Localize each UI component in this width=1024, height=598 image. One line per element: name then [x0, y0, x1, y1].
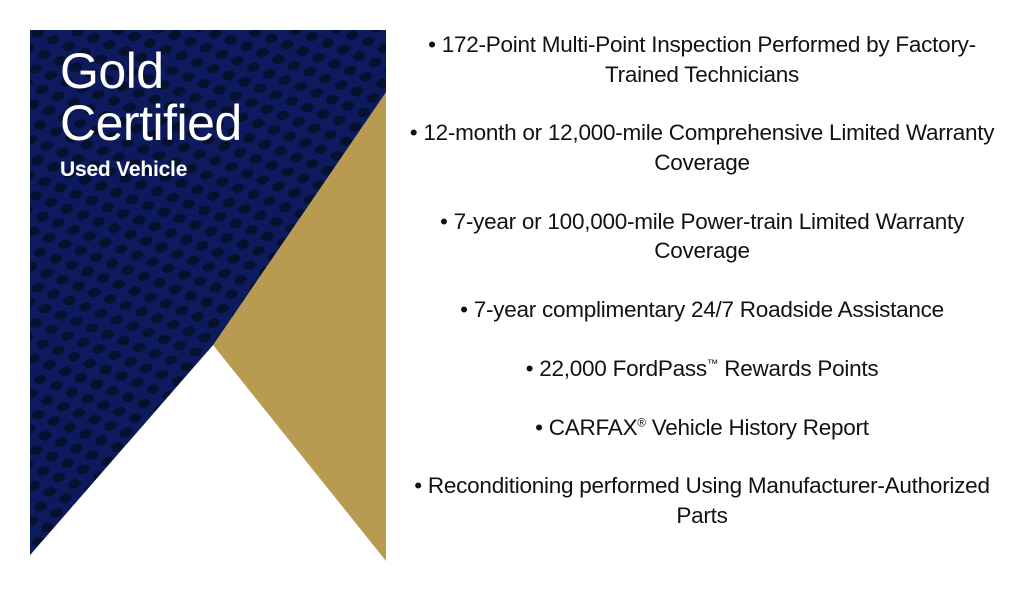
- feature-item-fordpass-rewards: • 22,000 FordPass™ Rewards Points: [392, 354, 1012, 384]
- badge-title-line-2: Certified: [60, 98, 360, 148]
- feature-item-comprehensive-warranty: • 12-month or 12,000-mile Comprehensive …: [392, 118, 1012, 177]
- badge-text-block: Gold Certified Used Vehicle: [60, 46, 360, 181]
- carfax-suffix: Vehicle History Report: [646, 415, 869, 440]
- trademark-icon: ™: [707, 357, 718, 370]
- gold-certified-badge: Gold Certified Used Vehicle: [30, 30, 386, 561]
- fordpass-suffix: Rewards Points: [718, 356, 878, 381]
- feature-item-powertrain-warranty: • 7-year or 100,000-mile Power-train Lim…: [392, 207, 1012, 266]
- feature-item-reconditioning: • Reconditioning performed Using Manufac…: [392, 471, 1012, 530]
- registered-icon: ®: [637, 416, 645, 429]
- fordpass-prefix: • 22,000 FordPass: [526, 356, 707, 381]
- carfax-prefix: • CARFAX: [535, 415, 637, 440]
- feature-item-inspection: • 172-Point Multi-Point Inspection Perfo…: [392, 30, 1012, 89]
- feature-item-roadside-assistance: • 7-year complimentary 24/7 Roadside Ass…: [392, 295, 1012, 325]
- badge-subtitle: Used Vehicle: [60, 158, 360, 181]
- badge-title-line-1: Gold: [60, 46, 360, 96]
- feature-item-carfax-report: • CARFAX® Vehicle History Report: [392, 413, 1012, 443]
- gold-certified-badge-graphic: Gold Certified Used Vehicle • 172-Point …: [0, 0, 1024, 598]
- feature-list: • 172-Point Multi-Point Inspection Perfo…: [392, 30, 1012, 570]
